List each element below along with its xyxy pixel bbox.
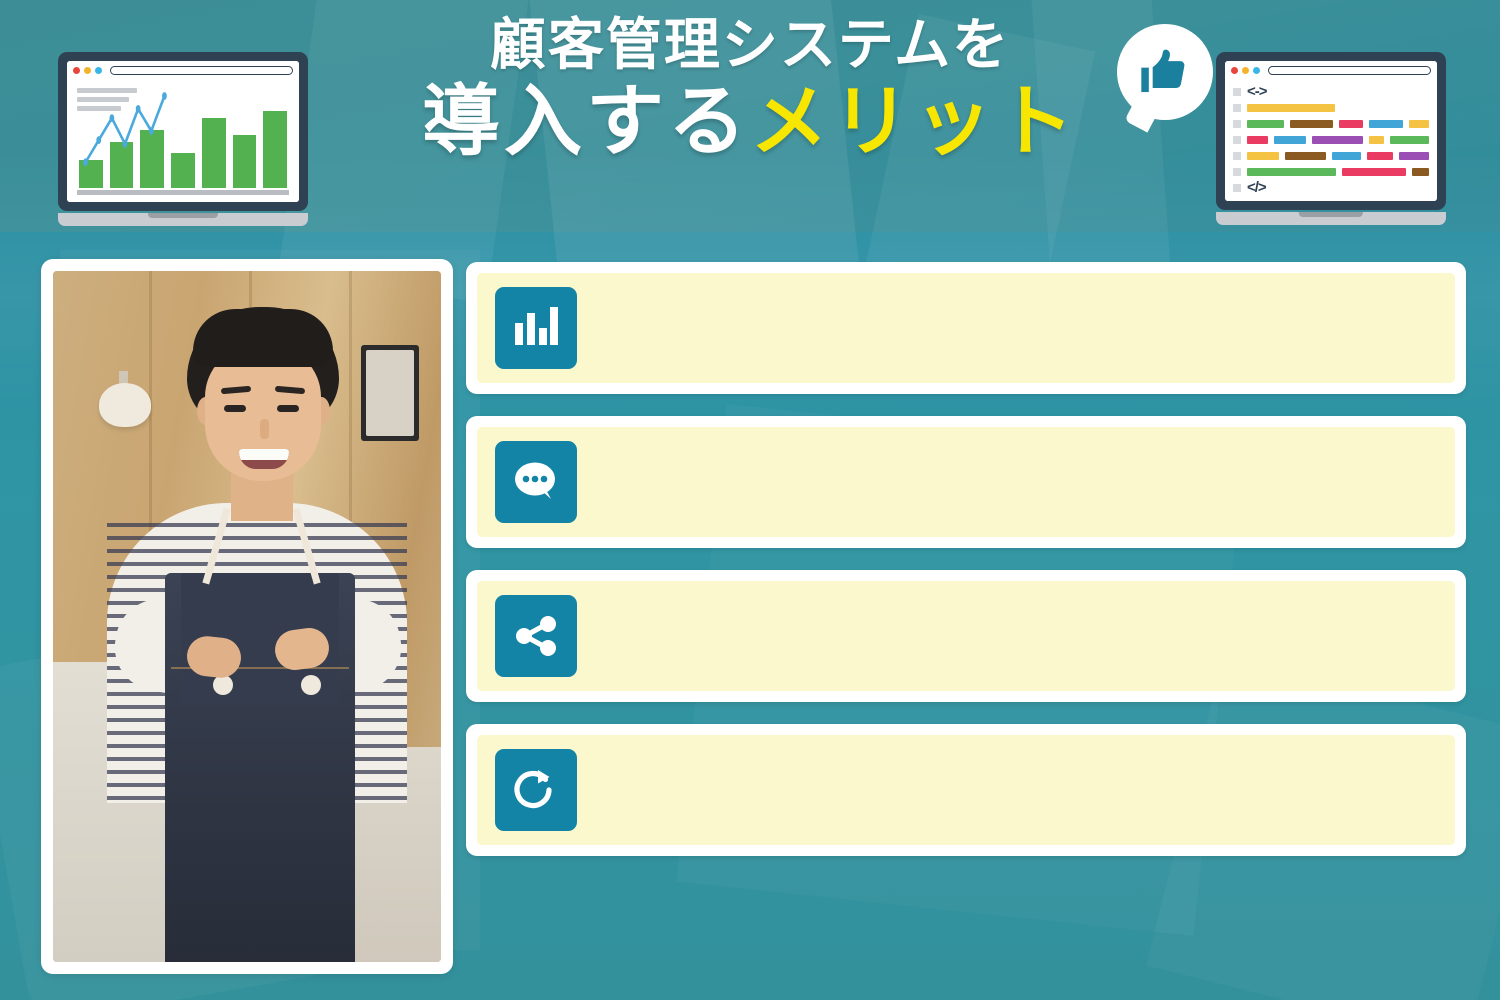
title-line-2: 導入するメリット <box>330 77 1170 167</box>
code-token <box>1247 152 1279 160</box>
code-row <box>1233 167 1429 177</box>
benefit-card-inner <box>477 427 1455 537</box>
photo-eye <box>277 405 299 412</box>
code-gutter-mark <box>1233 120 1241 128</box>
code-gutter-mark <box>1233 152 1241 160</box>
window-dot-red <box>1231 67 1238 74</box>
code-gutter-mark <box>1233 184 1241 192</box>
laptop-notch <box>1299 212 1363 217</box>
code-token <box>1409 120 1429 128</box>
benefit-card-inner <box>477 735 1455 845</box>
benefit-card[interactable] <box>466 724 1466 856</box>
laptop-chart-bar <box>171 153 195 188</box>
refresh-circle-icon <box>511 765 561 815</box>
window-dot-blue <box>1253 67 1260 74</box>
code-token <box>1412 168 1429 176</box>
code-row <box>1233 103 1429 113</box>
chat-bubble-icon <box>511 457 561 507</box>
code-gutter-mark <box>1233 104 1241 112</box>
code-token <box>1342 168 1406 176</box>
code-token <box>1339 120 1363 128</box>
code-token <box>1367 152 1393 160</box>
photo-shirt-stripe <box>107 549 407 553</box>
benefit-card[interactable] <box>466 416 1466 548</box>
title-line-2-white: 導入する <box>422 77 750 165</box>
photo-apron-knot <box>301 675 321 695</box>
code-token <box>1399 152 1429 160</box>
laptop-lid <box>58 52 308 211</box>
browser-url-bar <box>1268 66 1431 75</box>
laptop-chart-bar <box>202 118 226 188</box>
laptop-base <box>58 213 308 226</box>
window-dot-blue <box>95 67 102 74</box>
benefit-card-inner <box>477 581 1455 691</box>
browser-bar <box>1225 61 1437 80</box>
photo-wall-lamp <box>99 383 151 427</box>
photo-eye <box>224 405 246 412</box>
placeholder-text-line <box>77 88 137 93</box>
photo-mouth <box>239 449 289 469</box>
window-dot-yellow <box>1242 67 1249 74</box>
laptop-chart-bar <box>233 135 257 188</box>
code-token <box>1312 136 1363 144</box>
window-dot-red <box>73 67 80 74</box>
code-editor-pane: <-> </> <box>1225 80 1437 201</box>
share-nodes-icon <box>512 612 560 660</box>
code-editor-laptop-illustration: <-> </> <box>1216 52 1446 225</box>
benefit-card[interactable] <box>466 262 1466 394</box>
photo-shirt-stripe <box>107 523 407 527</box>
code-row: </> <box>1233 183 1429 193</box>
benefit-card[interactable] <box>466 570 1466 702</box>
code-token <box>1274 136 1306 144</box>
laptop-chart-point <box>149 127 154 135</box>
code-token <box>1247 136 1268 144</box>
laptop-chart-point <box>123 140 128 148</box>
laptop-chart-points <box>79 96 171 188</box>
title-line-1: 顧客管理システムを <box>330 14 1170 77</box>
code-row <box>1233 135 1429 145</box>
laptop-chart <box>67 80 299 202</box>
laptop-chart-point <box>109 114 114 122</box>
page-title: 顧客管理システムを 導入するメリット <box>330 14 1170 166</box>
laptop-chart-point <box>136 105 141 113</box>
code-row <box>1233 151 1429 161</box>
laptop-lid: <-> </> <box>1216 52 1446 210</box>
laptop-base <box>1216 212 1446 225</box>
code-row <box>1233 119 1429 129</box>
photo-inner <box>53 271 441 962</box>
benefit-icon-tile <box>495 595 577 677</box>
photo-fringe <box>193 309 333 367</box>
code-token <box>1369 136 1384 144</box>
laptop-notch <box>148 213 218 218</box>
laptop-chart-baseline <box>77 190 289 195</box>
bar-chart-icon <box>512 304 560 352</box>
benefit-icon-tile <box>495 287 577 369</box>
code-open-glyph: <-> <box>1247 87 1267 97</box>
laptop-chart-bar <box>263 111 287 188</box>
photo-nose <box>260 419 269 439</box>
benefit-icon-tile <box>495 441 577 523</box>
code-gutter-mark <box>1233 136 1241 144</box>
laptop-screen <box>67 61 299 202</box>
code-token <box>1247 104 1335 112</box>
code-token <box>1369 120 1403 128</box>
photo-apron-knot <box>213 675 233 695</box>
code-token <box>1290 120 1334 128</box>
window-dot-yellow <box>84 67 91 74</box>
photo-teeth <box>239 449 289 460</box>
analytics-laptop-illustration <box>58 52 308 226</box>
laptop-screen: <-> </> <box>1225 61 1437 201</box>
laptop-chart-point <box>83 158 88 166</box>
code-gutter-mark <box>1233 88 1241 96</box>
laptop-chart-point <box>96 136 101 144</box>
photo-shirt-stripe <box>107 562 407 566</box>
code-close-glyph: </> <box>1247 183 1266 193</box>
benefit-icon-tile <box>495 749 577 831</box>
header-banner: <-> </> 顧客管理システムを <box>0 0 1500 232</box>
browser-bar <box>67 61 299 80</box>
code-token <box>1247 168 1336 176</box>
code-rows-container <box>1233 103 1429 177</box>
photo-wall-frame <box>361 345 419 441</box>
code-gutter-mark <box>1233 168 1241 176</box>
code-token <box>1247 120 1284 128</box>
laptop-chart-point <box>162 92 167 100</box>
code-row: <-> <box>1233 87 1429 97</box>
smiling-shop-owner-photo <box>41 259 453 974</box>
photo-wall-frame-inner <box>366 350 414 436</box>
code-token <box>1332 152 1361 160</box>
browser-url-bar <box>110 66 293 75</box>
benefit-card-inner <box>477 273 1455 383</box>
benefits-card-list <box>466 262 1466 878</box>
photo-shirt-stripe <box>107 536 407 540</box>
code-token <box>1390 136 1429 144</box>
code-token <box>1285 152 1327 160</box>
title-line-2-accent: メリット <box>750 77 1078 165</box>
